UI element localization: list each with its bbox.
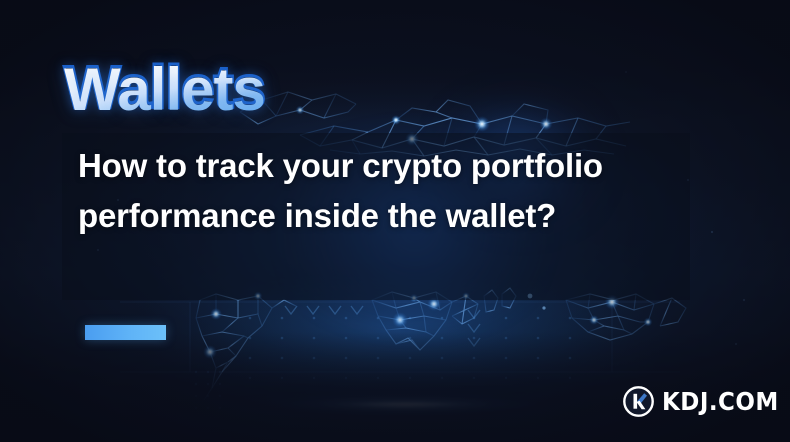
site-logo[interactable]: KDJ.COM xyxy=(623,386,789,417)
headline: How to track your crypto portfolio perfo… xyxy=(78,141,690,241)
logo-text: KDJ.COM xyxy=(662,387,779,416)
category-kicker: Wallets xyxy=(64,60,265,120)
banner: Wallets Wallets How to track your crypto… xyxy=(0,0,790,442)
banner-content: Wallets Wallets How to track your crypto… xyxy=(0,0,790,442)
accent-bar xyxy=(85,325,166,340)
logo-mark-k-icon xyxy=(623,386,654,417)
